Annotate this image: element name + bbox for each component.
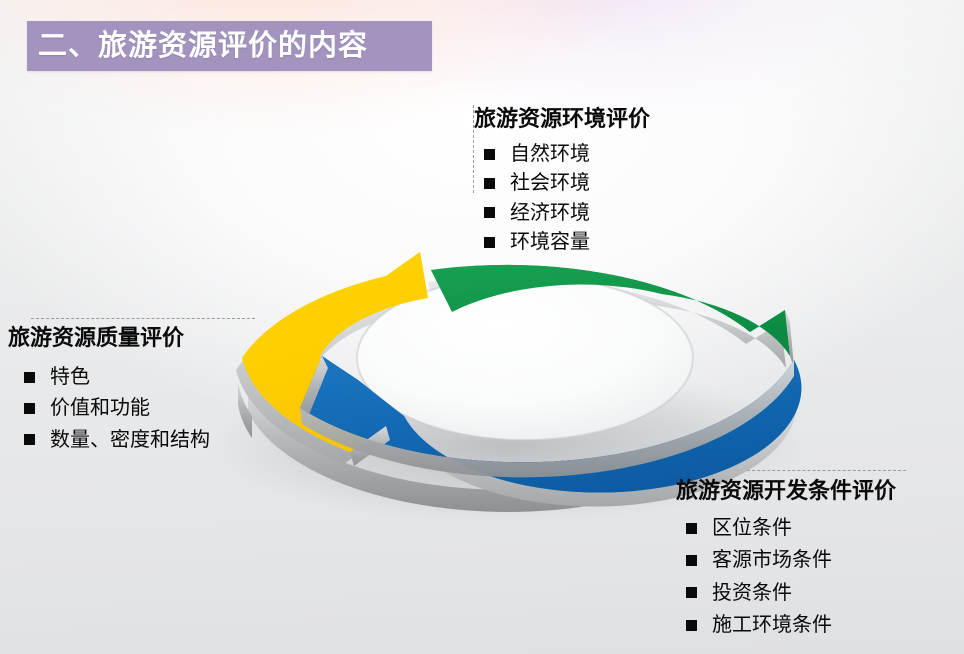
callout-development-list: 区位条件 客源市场条件 投资条件 施工环境条件: [686, 514, 896, 640]
square-bullet-icon: [24, 434, 35, 445]
square-bullet-icon: [686, 555, 697, 566]
callout-quality: 旅游资源质量评价 特色 价值和功能 数量、密度和结构: [8, 325, 210, 457]
list-item-label: 社会环境: [510, 169, 590, 197]
square-bullet-icon: [24, 403, 35, 414]
callout-environment: 旅游资源环境评价 自然环境 社会环境 经济环境 环境容量: [474, 106, 650, 258]
list-item-label: 数量、密度和结构: [50, 426, 210, 454]
callout-development: 旅游资源开发条件评价 区位条件 客源市场条件 投资条件 施工环境条件: [676, 478, 896, 644]
callout-development-heading: 旅游资源开发条件评价: [676, 478, 896, 504]
list-item: 区位条件: [686, 514, 896, 542]
list-item: 施工环境条件: [686, 611, 896, 639]
square-bullet-icon: [484, 178, 495, 189]
list-item-label: 特色: [50, 363, 90, 391]
list-item: 经济环境: [484, 199, 650, 227]
callout-environment-heading: 旅游资源环境评价: [474, 106, 650, 132]
square-bullet-icon: [484, 207, 495, 218]
list-item-label: 施工环境条件: [712, 611, 832, 639]
square-bullet-icon: [484, 237, 495, 248]
list-item-label: 自然环境: [510, 140, 590, 168]
list-item: 客源市场条件: [686, 546, 896, 574]
callout-quality-heading: 旅游资源质量评价: [8, 325, 210, 351]
list-item: 投资条件: [686, 579, 896, 607]
list-item: 环境容量: [484, 228, 650, 256]
list-item-label: 区位条件: [712, 514, 792, 542]
list-item-label: 客源市场条件: [712, 546, 832, 574]
callout-environment-list: 自然环境 社会环境 经济环境 环境容量: [484, 140, 650, 257]
title-banner: 二、旅游资源评价的内容: [27, 21, 432, 71]
square-bullet-icon: [484, 149, 495, 160]
square-bullet-icon: [24, 372, 35, 383]
list-item: 数量、密度和结构: [24, 426, 210, 454]
list-item: 自然环境: [484, 140, 650, 168]
list-item: 社会环境: [484, 169, 650, 197]
callout-quality-list: 特色 价值和功能 数量、密度和结构: [24, 363, 210, 454]
list-item-label: 经济环境: [510, 199, 590, 227]
list-item: 价值和功能: [24, 394, 210, 422]
list-item-label: 价值和功能: [50, 394, 150, 422]
page-title: 二、旅游资源评价的内容: [27, 32, 368, 61]
list-item: 特色: [24, 363, 210, 391]
square-bullet-icon: [686, 620, 697, 631]
list-item-label: 环境容量: [510, 228, 590, 256]
slide-canvas: 二、旅游资源评价的内容: [0, 0, 964, 654]
square-bullet-icon: [686, 587, 697, 598]
list-item-label: 投资条件: [712, 579, 792, 607]
square-bullet-icon: [686, 523, 697, 534]
